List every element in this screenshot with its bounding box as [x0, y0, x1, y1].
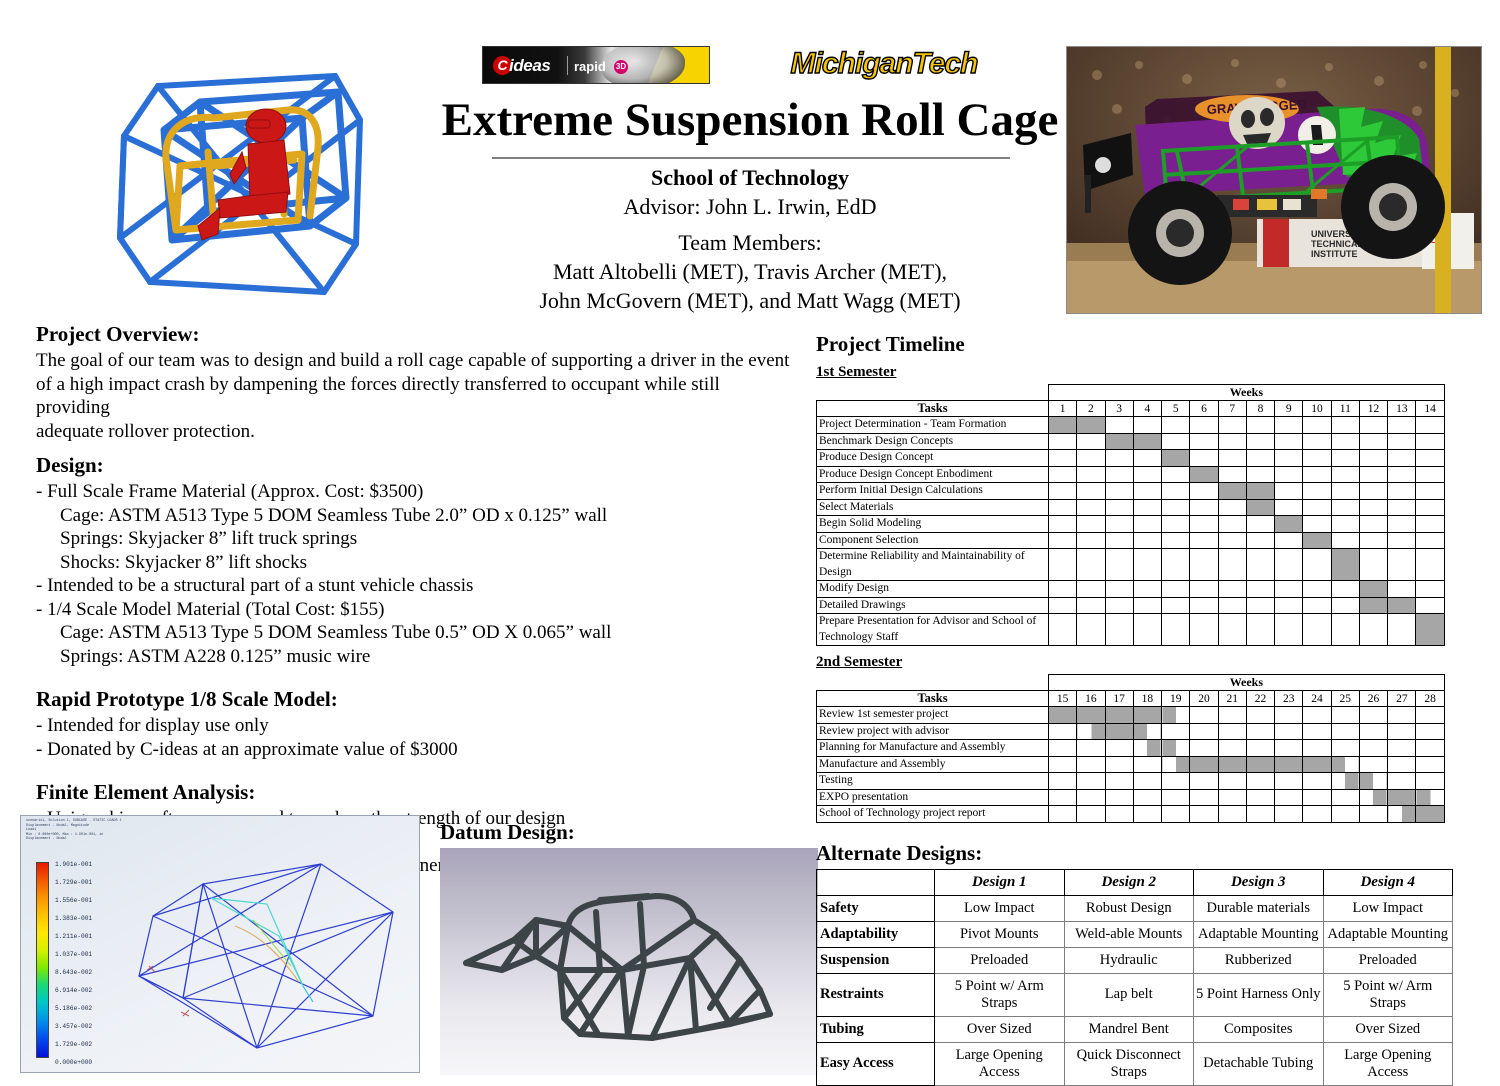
- gantt-week-number: 28: [1416, 691, 1444, 707]
- table-row: Benchmark Design Concepts: [817, 433, 1445, 450]
- gantt-tasks-header: Tasks: [817, 401, 1049, 417]
- gantt-empty-cell: [1190, 581, 1218, 598]
- table-row: Modify Design: [817, 581, 1445, 598]
- fea-legend-value-8: 5.186e-002: [55, 1005, 125, 1013]
- gantt-empty-cell: [1049, 499, 1077, 516]
- table-row: Begin Solid Modeling: [817, 516, 1445, 533]
- alt-value-cell: Large Opening Access: [1323, 1042, 1453, 1085]
- gantt-task-label: Benchmark Design Concepts: [817, 433, 1049, 450]
- gantt-empty-cell: [1049, 597, 1077, 614]
- gantt-task-label: Modify Design: [817, 581, 1049, 598]
- table-row: Produce Design Concept: [817, 450, 1445, 467]
- gantt-bar-cell: [1162, 740, 1190, 757]
- gantt-empty-cell: [1190, 707, 1218, 724]
- gantt-empty-cell: [1049, 549, 1077, 581]
- alt-value-cell: Durable materials: [1194, 895, 1324, 921]
- gantt-empty-cell: [1388, 433, 1416, 450]
- gantt-empty-cell: [1077, 466, 1105, 483]
- gantt-empty-cell: [1077, 549, 1105, 581]
- gantt-empty-cell: [1331, 532, 1359, 549]
- gantt-week-number: 14: [1416, 401, 1444, 417]
- gantt-empty-cell: [1190, 723, 1218, 740]
- gantt-empty-cell: [1359, 450, 1387, 467]
- semester-1-label: 1st Semester: [816, 364, 1486, 381]
- alt-criterion-label: Safety: [817, 895, 935, 921]
- gantt-bar-cell: [1246, 499, 1274, 516]
- gantt-bar-cell: [1416, 806, 1444, 823]
- gantt-empty-cell: [1388, 450, 1416, 467]
- page-title: Extreme Suspension Roll Cage: [410, 92, 1090, 148]
- gantt-empty-cell: [1162, 789, 1190, 806]
- fea-legend-value-2: 1.556e-001: [55, 897, 125, 905]
- gantt-empty-cell: [1105, 499, 1133, 516]
- alt-value-cell: 5 Point w/ Arm Straps: [935, 973, 1065, 1016]
- gantt-task-label: EXPO presentation: [817, 789, 1049, 806]
- gantt-empty-cell: [1331, 723, 1359, 740]
- gantt-empty-cell: [1331, 806, 1359, 823]
- alt-value-cell: Large Opening Access: [935, 1042, 1065, 1085]
- alt-value-cell: Over Sized: [1323, 1016, 1453, 1042]
- gantt-empty-cell: [1049, 532, 1077, 549]
- gantt-empty-cell: [1303, 597, 1331, 614]
- design-line-2: Cage: ASTM A513 Type 5 DOM Seamless Tube…: [36, 504, 796, 528]
- project-timeline-heading: Project Timeline: [816, 332, 1486, 356]
- gantt-bar-cell: [1190, 756, 1218, 773]
- gantt-bar-cell: [1388, 789, 1416, 806]
- gantt-bar-cell: [1049, 417, 1077, 434]
- gantt-empty-cell: [1190, 483, 1218, 500]
- gantt-empty-cell: [1303, 773, 1331, 790]
- gantt-empty-cell: [1331, 614, 1359, 646]
- right-content-column: Project Timeline 1st Semester WeeksTasks…: [816, 332, 1486, 1086]
- subtitle-block: School of Technology Advisor: John L. Ir…: [410, 164, 1090, 221]
- gantt-empty-cell: [1359, 417, 1387, 434]
- gantt-empty-cell: [1388, 417, 1416, 434]
- gantt-empty-cell: [1416, 450, 1444, 467]
- alt-value-cell: Preloaded: [935, 947, 1065, 973]
- gantt-empty-cell: [1331, 450, 1359, 467]
- gantt-empty-cell: [1303, 581, 1331, 598]
- gantt-empty-cell: [1133, 516, 1161, 533]
- gantt-empty-cell: [1246, 516, 1274, 533]
- school-name: School of Technology: [410, 164, 1090, 192]
- gantt-empty-cell: [1246, 614, 1274, 646]
- gantt-week-number: 11: [1331, 401, 1359, 417]
- gantt-empty-cell: [1105, 450, 1133, 467]
- gantt-bar-cell: [1388, 806, 1416, 823]
- gantt-task-label: Component Selection: [817, 532, 1049, 549]
- gantt-empty-cell: [1388, 581, 1416, 598]
- gantt-empty-cell: [1077, 614, 1105, 646]
- gantt-task-label: Produce Design Concept: [817, 450, 1049, 467]
- gantt-empty-cell: [1275, 740, 1303, 757]
- gantt-bar-cell: [1275, 756, 1303, 773]
- gantt-empty-cell: [1331, 499, 1359, 516]
- gantt-bar-cell: [1359, 581, 1387, 598]
- gantt-empty-cell: [1162, 597, 1190, 614]
- gantt-week-number: 20: [1190, 691, 1218, 707]
- gantt-empty-cell: [1416, 433, 1444, 450]
- gantt-empty-cell: [1049, 723, 1077, 740]
- gantt-weeks-banner-row: Weeks: [817, 385, 1445, 401]
- gantt-week-number: 24: [1303, 691, 1331, 707]
- rapid-prototype-line-2: - Donated by C-ideas at an approximate v…: [36, 738, 796, 762]
- gantt-task-label: Begin Solid Modeling: [817, 516, 1049, 533]
- table-row: Easy AccessLarge Opening AccessQuick Dis…: [817, 1042, 1453, 1085]
- gantt-empty-cell: [1275, 549, 1303, 581]
- semester-2-label: 2nd Semester: [816, 654, 1486, 671]
- design-line-7: Cage: ASTM A513 Type 5 DOM Seamless Tube…: [36, 621, 796, 645]
- gantt-bar-cell: [1105, 433, 1133, 450]
- gantt-empty-cell: [1303, 723, 1331, 740]
- gantt-empty-cell: [1275, 614, 1303, 646]
- gantt-empty-cell: [1105, 740, 1133, 757]
- gantt-empty-cell: [1105, 581, 1133, 598]
- datum-design-figure: [440, 848, 818, 1075]
- gantt-empty-cell: [1077, 756, 1105, 773]
- gantt-empty-cell: [1303, 417, 1331, 434]
- gantt-empty-cell: [1416, 417, 1444, 434]
- gantt-empty-cell: [1190, 433, 1218, 450]
- alt-value-cell: Mandrel Bent: [1064, 1016, 1194, 1042]
- poster-header: C ideas rapid 3D MichiganTech Extreme Su…: [0, 0, 1500, 318]
- gantt-empty-cell: [1331, 740, 1359, 757]
- gantt-empty-cell: [1246, 773, 1274, 790]
- gantt-empty-cell: [1416, 532, 1444, 549]
- gantt-corner-blank: [817, 385, 1049, 401]
- gantt-empty-cell: [1133, 756, 1161, 773]
- gantt-table-semester-2: WeeksTasks1516171819202122232425262728Re…: [816, 674, 1445, 823]
- gantt-empty-cell: [1303, 466, 1331, 483]
- gantt-empty-cell: [1303, 740, 1331, 757]
- gantt-empty-cell: [1049, 450, 1077, 467]
- gantt-empty-cell: [1359, 723, 1387, 740]
- gantt-table-semester-1: WeeksTasks1234567891011121314Project Det…: [816, 384, 1445, 646]
- gantt-empty-cell: [1246, 597, 1274, 614]
- gantt-empty-cell: [1133, 789, 1161, 806]
- gantt-empty-cell: [1359, 614, 1387, 646]
- alt-criterion-label: Restraints: [817, 973, 935, 1016]
- gantt-empty-cell: [1218, 516, 1246, 533]
- gantt-empty-cell: [1331, 516, 1359, 533]
- gantt-empty-cell: [1359, 756, 1387, 773]
- gantt-task-label: Review project with advisor: [817, 723, 1049, 740]
- alt-design-header: Design 3: [1194, 869, 1324, 895]
- alternate-designs-heading: Alternate Designs:: [816, 841, 1486, 866]
- alt-design-header: Design 2: [1064, 869, 1194, 895]
- gantt-empty-cell: [1133, 549, 1161, 581]
- gantt-empty-cell: [1049, 614, 1077, 646]
- fea-legend-value-3: 1.383e-001: [55, 915, 125, 923]
- gantt-bar-cell: [1303, 532, 1331, 549]
- gantt-bar-cell: [1190, 466, 1218, 483]
- overview-line-2: of a high impact crash by dampening the …: [36, 373, 796, 420]
- gantt-empty-cell: [1303, 483, 1331, 500]
- gantt-empty-cell: [1416, 581, 1444, 598]
- gantt-empty-cell: [1077, 499, 1105, 516]
- gantt-empty-cell: [1246, 417, 1274, 434]
- spacer: [36, 443, 796, 453]
- gantt-empty-cell: [1246, 723, 1274, 740]
- fea-legend-value-10: 1.729e-002: [55, 1041, 125, 1049]
- alternate-designs-table: Design 1Design 2Design 3Design 4SafetyLo…: [816, 869, 1453, 1086]
- left-content-column: Project Overview: The goal of our team w…: [36, 322, 796, 878]
- gantt-empty-cell: [1190, 597, 1218, 614]
- gantt-empty-cell: [1416, 499, 1444, 516]
- gantt-empty-cell: [1133, 417, 1161, 434]
- gantt-empty-cell: [1275, 532, 1303, 549]
- alt-value-cell: Detachable Tubing: [1194, 1042, 1324, 1085]
- fea-legend-value-4: 1.211e-001: [55, 933, 125, 941]
- gantt-task-label: Review 1st semester project: [817, 707, 1049, 724]
- spacer: [36, 668, 796, 687]
- gantt-empty-cell: [1388, 614, 1416, 646]
- gantt-week-number: 17: [1105, 691, 1133, 707]
- gantt-empty-cell: [1359, 740, 1387, 757]
- gantt-empty-cell: [1303, 499, 1331, 516]
- gantt-empty-cell: [1105, 549, 1133, 581]
- gantt-empty-cell: [1049, 806, 1077, 823]
- gantt-empty-cell: [1190, 549, 1218, 581]
- gantt-empty-cell: [1077, 433, 1105, 450]
- fea-legend-value-9: 3.457e-002: [55, 1023, 125, 1031]
- gantt-bar-cell: [1331, 756, 1359, 773]
- gantt-empty-cell: [1218, 581, 1246, 598]
- gantt-empty-cell: [1162, 516, 1190, 533]
- michigan-tech-logo: MichiganTech: [778, 48, 990, 80]
- gantt-empty-cell: [1388, 740, 1416, 757]
- datum-design-heading: Datum Design:: [440, 820, 575, 845]
- gantt-empty-cell: [1416, 740, 1444, 757]
- alt-criterion-label: Easy Access: [817, 1042, 935, 1085]
- gantt-bar-cell: [1331, 773, 1359, 790]
- gantt-empty-cell: [1077, 516, 1105, 533]
- gantt-header-row: Tasks1234567891011121314: [817, 401, 1445, 417]
- fea-legend-value-7: 6.914e-002: [55, 987, 125, 995]
- table-row: Review project with advisor: [817, 723, 1445, 740]
- gantt-empty-cell: [1190, 532, 1218, 549]
- gantt-task-label: Select Materials: [817, 499, 1049, 516]
- alt-design-header: Design 4: [1323, 869, 1453, 895]
- gantt-empty-cell: [1105, 417, 1133, 434]
- gantt-empty-cell: [1275, 773, 1303, 790]
- gantt-empty-cell: [1388, 707, 1416, 724]
- gantt-empty-cell: [1218, 466, 1246, 483]
- fea-legend-value-1: 1.729e-001: [55, 879, 125, 887]
- gantt-empty-cell: [1246, 549, 1274, 581]
- gantt-empty-cell: [1162, 581, 1190, 598]
- gantt-empty-cell: [1388, 549, 1416, 581]
- design-heading: Design:: [36, 453, 796, 478]
- table-row: School of Technology project report: [817, 806, 1445, 823]
- gantt-empty-cell: [1133, 581, 1161, 598]
- gantt-weeks-header: Weeks: [1049, 385, 1445, 401]
- alt-design-header: Design 1: [935, 869, 1065, 895]
- alt-value-cell: Weld-able Mounts: [1064, 921, 1194, 947]
- gantt-bar-cell: [1359, 789, 1387, 806]
- table-row: Project Determination - Team Formation: [817, 417, 1445, 434]
- gantt-empty-cell: [1133, 466, 1161, 483]
- gantt-bar-cell: [1331, 549, 1359, 581]
- gantt-empty-cell: [1077, 773, 1105, 790]
- gantt-empty-cell: [1218, 614, 1246, 646]
- gantt-bar-cell: [1359, 597, 1387, 614]
- alt-value-cell: 5 Point Harness Only: [1194, 973, 1324, 1016]
- logo-divider: [567, 56, 568, 75]
- gantt-empty-cell: [1218, 417, 1246, 434]
- gantt-empty-cell: [1388, 773, 1416, 790]
- gantt-week-number: 9: [1275, 401, 1303, 417]
- table-row: TubingOver SizedMandrel BentCompositesOv…: [817, 1016, 1453, 1042]
- gantt-empty-cell: [1162, 532, 1190, 549]
- gantt-empty-cell: [1077, 581, 1105, 598]
- gantt-bar-cell: [1246, 756, 1274, 773]
- alt-value-cell: 5 Point w/ Arm Straps: [1323, 973, 1453, 1016]
- gantt-empty-cell: [1359, 483, 1387, 500]
- gantt-empty-cell: [1388, 516, 1416, 533]
- gantt-empty-cell: [1077, 532, 1105, 549]
- alt-criterion-label: Tubing: [817, 1016, 935, 1042]
- gantt-empty-cell: [1190, 789, 1218, 806]
- gantt-weeks-banner-row: Weeks: [817, 675, 1445, 691]
- design-line-5: - Intended to be a structural part of a …: [36, 574, 796, 598]
- gantt-empty-cell: [1162, 773, 1190, 790]
- gantt-empty-cell: [1077, 597, 1105, 614]
- svg-text:INSTITUTE: INSTITUTE: [1311, 249, 1358, 259]
- design-line-1: - Full Scale Frame Material (Approx. Cos…: [36, 480, 796, 504]
- alt-criterion-label: Suspension: [817, 947, 935, 973]
- advisor-line: Advisor: John L. Irwin, EdD: [410, 192, 1090, 221]
- gantt-empty-cell: [1162, 549, 1190, 581]
- title-divider: [492, 157, 1010, 159]
- design-line-6: - 1/4 Scale Model Material (Total Cost: …: [36, 598, 796, 622]
- gantt-empty-cell: [1275, 789, 1303, 806]
- gantt-empty-cell: [1218, 499, 1246, 516]
- gantt-empty-cell: [1105, 773, 1133, 790]
- rapid-prototype-line-1: - Intended for display use only: [36, 714, 796, 738]
- gantt-week-number: 18: [1133, 691, 1161, 707]
- gantt-bar-cell: [1133, 740, 1161, 757]
- gantt-empty-cell: [1049, 756, 1077, 773]
- gantt-empty-cell: [1105, 756, 1133, 773]
- gantt-empty-cell: [1359, 516, 1387, 533]
- table-row: Prepare Presentation for Advisor and Sch…: [817, 614, 1445, 646]
- gantt-empty-cell: [1105, 466, 1133, 483]
- alt-value-cell: Composites: [1194, 1016, 1324, 1042]
- fea-heading: Finite Element Analysis:: [36, 780, 796, 805]
- gantt-week-number: 7: [1218, 401, 1246, 417]
- table-row: Restraints5 Point w/ Arm StrapsLap belt5…: [817, 973, 1453, 1016]
- gantt-week-number: 3: [1105, 401, 1133, 417]
- gantt-empty-cell: [1218, 549, 1246, 581]
- gantt-empty-cell: [1359, 707, 1387, 724]
- gantt-empty-cell: [1218, 433, 1246, 450]
- gantt-empty-cell: [1331, 433, 1359, 450]
- alt-corner-cell: [817, 869, 935, 895]
- gantt-empty-cell: [1359, 466, 1387, 483]
- gantt-empty-cell: [1133, 614, 1161, 646]
- gantt-bar-cell: [1416, 789, 1444, 806]
- table-row: Testing: [817, 773, 1445, 790]
- table-row: Manufacture and Assembly: [817, 756, 1445, 773]
- gantt-bar-cell: [1077, 707, 1105, 724]
- gantt-empty-cell: [1049, 433, 1077, 450]
- alt-value-cell: Adaptable Mounting: [1323, 921, 1453, 947]
- gantt-empty-cell: [1246, 532, 1274, 549]
- gantt-task-label: Project Determination - Team Formation: [817, 417, 1049, 434]
- gantt-week-number: 4: [1133, 401, 1161, 417]
- table-row: AdaptabilityPivot MountsWeld-able Mounts…: [817, 921, 1453, 947]
- gantt-empty-cell: [1162, 466, 1190, 483]
- gantt-bar-cell: [1162, 756, 1190, 773]
- gantt-week-number: 16: [1077, 691, 1105, 707]
- gantt-week-number: 8: [1246, 401, 1274, 417]
- gantt-empty-cell: [1077, 806, 1105, 823]
- gantt-empty-cell: [1218, 806, 1246, 823]
- alt-value-cell: Hydraulic: [1064, 947, 1194, 973]
- gantt-empty-cell: [1275, 483, 1303, 500]
- rapid-prototype-heading: Rapid Prototype 1/8 Scale Model:: [36, 687, 796, 712]
- gantt-empty-cell: [1416, 466, 1444, 483]
- gantt-week-number: 21: [1218, 691, 1246, 707]
- gantt-empty-cell: [1077, 789, 1105, 806]
- table-row: Perform Initial Design Calculations: [817, 483, 1445, 500]
- gantt-empty-cell: [1303, 516, 1331, 533]
- gantt-empty-cell: [1331, 597, 1359, 614]
- overview-line-1: The goal of our team was to design and b…: [36, 349, 796, 373]
- alt-value-cell: Preloaded: [1323, 947, 1453, 973]
- gantt-empty-cell: [1303, 450, 1331, 467]
- gantt-bar-cell: [1416, 614, 1444, 646]
- gantt-week-number: 5: [1162, 401, 1190, 417]
- table-row: Produce Design Concept Enbodiment: [817, 466, 1445, 483]
- gantt-empty-cell: [1190, 740, 1218, 757]
- gantt-task-label: Perform Initial Design Calculations: [817, 483, 1049, 500]
- gantt-bar-cell: [1105, 707, 1133, 724]
- gantt-header-row: Tasks1516171819202122232425262728: [817, 691, 1445, 707]
- gantt-empty-cell: [1190, 450, 1218, 467]
- fea-displacement-figure: scenario1, Solution 1, SUBCASE - STATIC …: [20, 815, 420, 1073]
- monster-truck-photo: UNIVERSAL TECHNICAL INSTITUTE Sa GRAVE D…: [1066, 46, 1482, 314]
- gantt-task-label: Planning for Manufacture and Assembly: [817, 740, 1049, 757]
- gantt-empty-cell: [1162, 433, 1190, 450]
- gantt-empty-cell: [1162, 417, 1190, 434]
- gantt-empty-cell: [1049, 740, 1077, 757]
- gantt-bar-cell: [1105, 723, 1133, 740]
- gantt-empty-cell: [1105, 614, 1133, 646]
- fea-legend-value-0: 1.901e-001: [55, 861, 125, 869]
- cideas-rapid3d-logo: C ideas rapid 3D: [482, 46, 710, 84]
- gantt-bar-cell: [1388, 597, 1416, 614]
- team-block: Team Members: Matt Altobelli (MET), Trav…: [410, 228, 1090, 315]
- gantt-empty-cell: [1275, 806, 1303, 823]
- gantt-empty-cell: [1359, 806, 1387, 823]
- table-row: Planning for Manufacture and Assembly: [817, 740, 1445, 757]
- gantt-bar-cell: [1133, 723, 1161, 740]
- gantt-empty-cell: [1049, 581, 1077, 598]
- gantt-task-label: School of Technology project report: [817, 806, 1049, 823]
- gantt-empty-cell: [1162, 723, 1190, 740]
- gantt-empty-cell: [1246, 466, 1274, 483]
- gantt-empty-cell: [1133, 532, 1161, 549]
- gantt-empty-cell: [1388, 756, 1416, 773]
- fea-legend-value-5: 1.037e-001: [55, 951, 125, 959]
- gantt-empty-cell: [1359, 549, 1387, 581]
- gantt-empty-cell: [1049, 773, 1077, 790]
- design-line-3: Springs: Skyjacker 8” lift truck springs: [36, 527, 796, 551]
- gantt-empty-cell: [1218, 723, 1246, 740]
- gantt-week-number: 6: [1190, 401, 1218, 417]
